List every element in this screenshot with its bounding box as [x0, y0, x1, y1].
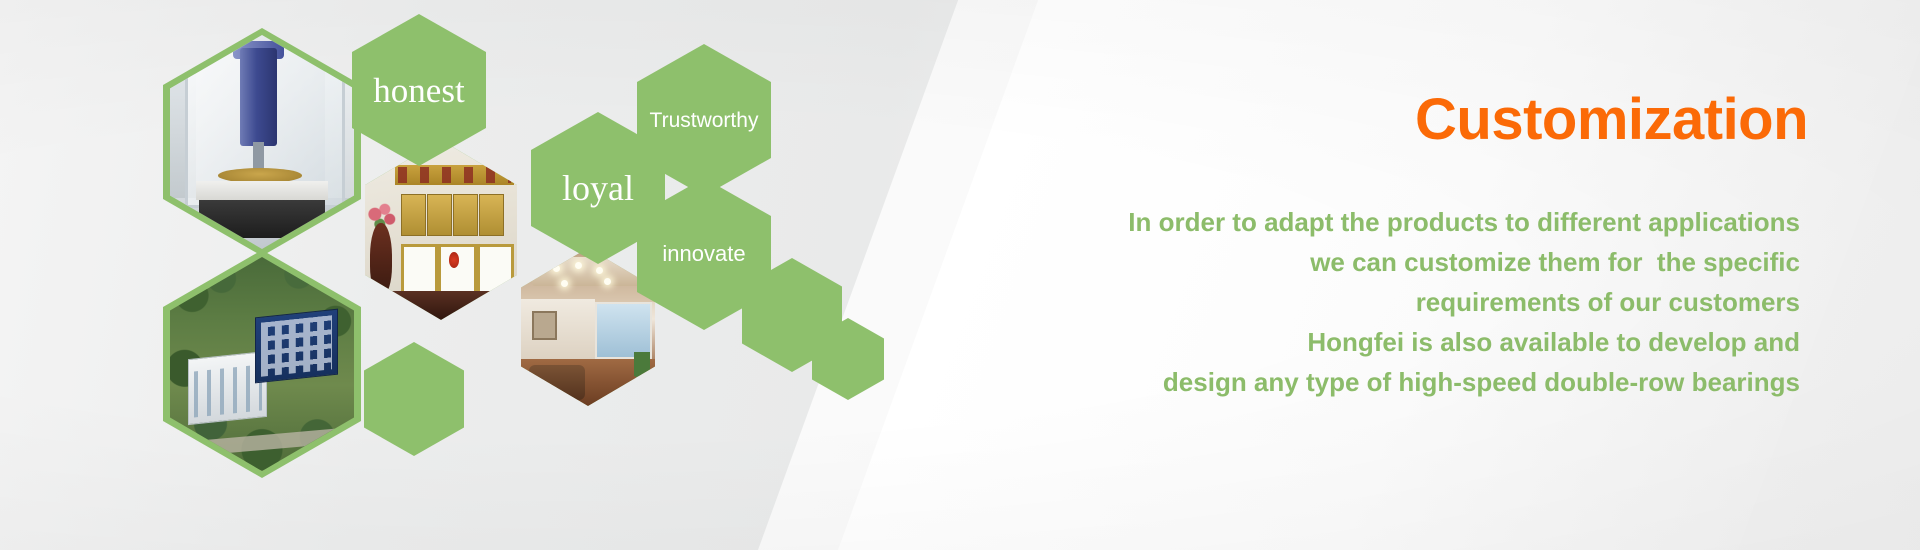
hexagon-honest-label: honest: [373, 73, 464, 108]
hexagon-honest[interactable]: honest: [352, 14, 486, 166]
certificate-honor-wall-photo: [365, 140, 517, 320]
hexagon-photo-aerial: [163, 250, 361, 478]
coordinate-measuring-machine-photo: [170, 35, 354, 249]
certificates-photo-clip: [365, 140, 517, 320]
banner-stage: honest loyal Trustworthy innovate Custom…: [0, 0, 1920, 550]
hexagon-photo-cmm: [163, 28, 361, 256]
hexagon-photo-office: [521, 248, 655, 406]
hexagon-loyal-label: loyal: [562, 170, 634, 206]
page-title: Customization: [1415, 86, 1808, 153]
cmm-photo-clip: [170, 35, 354, 249]
body-line-5: design any type of high-speed double-row…: [700, 362, 1800, 402]
hexagon-decorative-bottom-left: [364, 342, 464, 456]
body-line-2: we can customize them for the specific: [700, 242, 1800, 282]
banner-body-text: In order to adapt the products to differ…: [700, 202, 1800, 402]
body-line-3: requirements of our customers: [700, 282, 1800, 322]
body-line-4: Hongfei is also available to develop and: [700, 322, 1800, 362]
body-line-1: In order to adapt the products to differ…: [700, 202, 1800, 242]
aerial-photo-clip: [170, 257, 354, 471]
hexagon-trustworthy-label: Trustworthy: [650, 110, 759, 131]
factory-aerial-view-photo: [170, 257, 354, 471]
office-lobby-photo: [521, 248, 655, 406]
office-photo-clip: [521, 248, 655, 406]
hexagon-photo-certificates: [365, 140, 517, 320]
